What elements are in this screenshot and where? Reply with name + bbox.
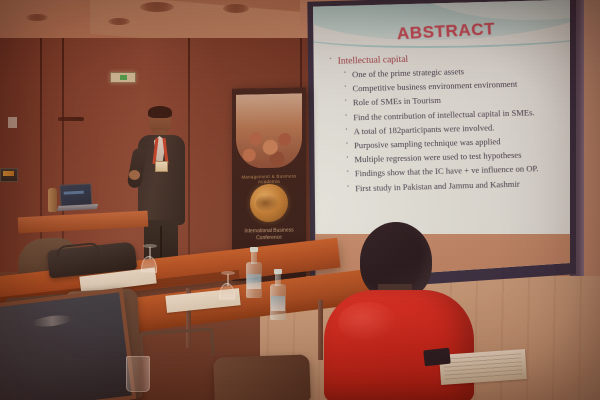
slide-title: ABSTRACT [396,19,495,44]
slide-sub-bullet: First study in Pakistan and Jammu and Ka… [347,178,570,193]
glass-foot [143,244,157,248]
glass-foot [221,271,235,275]
banner-event-name: International Business Conference [232,227,306,242]
banner-photo [236,93,302,168]
presenter-hand [129,170,140,180]
attendee-shoulder-highlight [338,302,398,342]
door-handle [58,117,84,121]
presentation-photo-scene: ABSTRACT Intellectual capital One of the… [0,0,600,400]
slide-sub-bullet: Findings show that the IC have + ve infl… [347,164,570,179]
monitor [0,288,136,400]
downlight-icon [140,2,174,12]
downlight-icon [26,14,48,21]
conference-badge [155,161,168,172]
presenter [128,108,198,258]
slide-bullet-list: Intellectual capital One of the prime st… [330,50,570,198]
slide-sub-bullet: Competitive business environment environ… [344,78,570,93]
light-switch[interactable] [8,117,17,128]
thermos-flask [48,188,57,212]
laptop[interactable] [59,183,94,211]
glass-stem [149,247,151,259]
downlight-icon [108,18,130,25]
av-device[interactable] [0,168,18,182]
water-bottle [246,250,262,298]
wall-far-right [584,0,600,300]
conference-chair [213,354,311,400]
slide-sub-bullet: One of the prime strategic assets [344,64,570,79]
glass-stem [227,274,229,286]
slide-sub-bullet: Role of SMEs in Tourism [345,93,570,108]
chair-armrest [139,327,215,361]
slide-sub-bullet: Multiple regression were used to test hy… [346,149,570,164]
phone[interactable] [423,348,451,367]
bottle-label [271,296,285,311]
slide-sub-bullet: A total of 182participants were involved… [346,121,570,136]
wine-glass [220,270,236,300]
presenter-hair [148,106,172,118]
water-bottle [270,272,286,320]
slide-sub-bullet: Find the contribution of intellectual ca… [345,107,570,122]
downlight-icon [223,4,249,13]
water-glass [126,356,150,392]
bottle-label [247,274,261,289]
wine-glass [142,243,158,273]
exit-sign-icon [110,72,136,83]
banner-organisation: Management & Business Academia [240,173,298,232]
presenter-leg-gap [160,226,162,262]
slide-sub-bullet: Purposive sampling technique was applied [346,135,570,150]
